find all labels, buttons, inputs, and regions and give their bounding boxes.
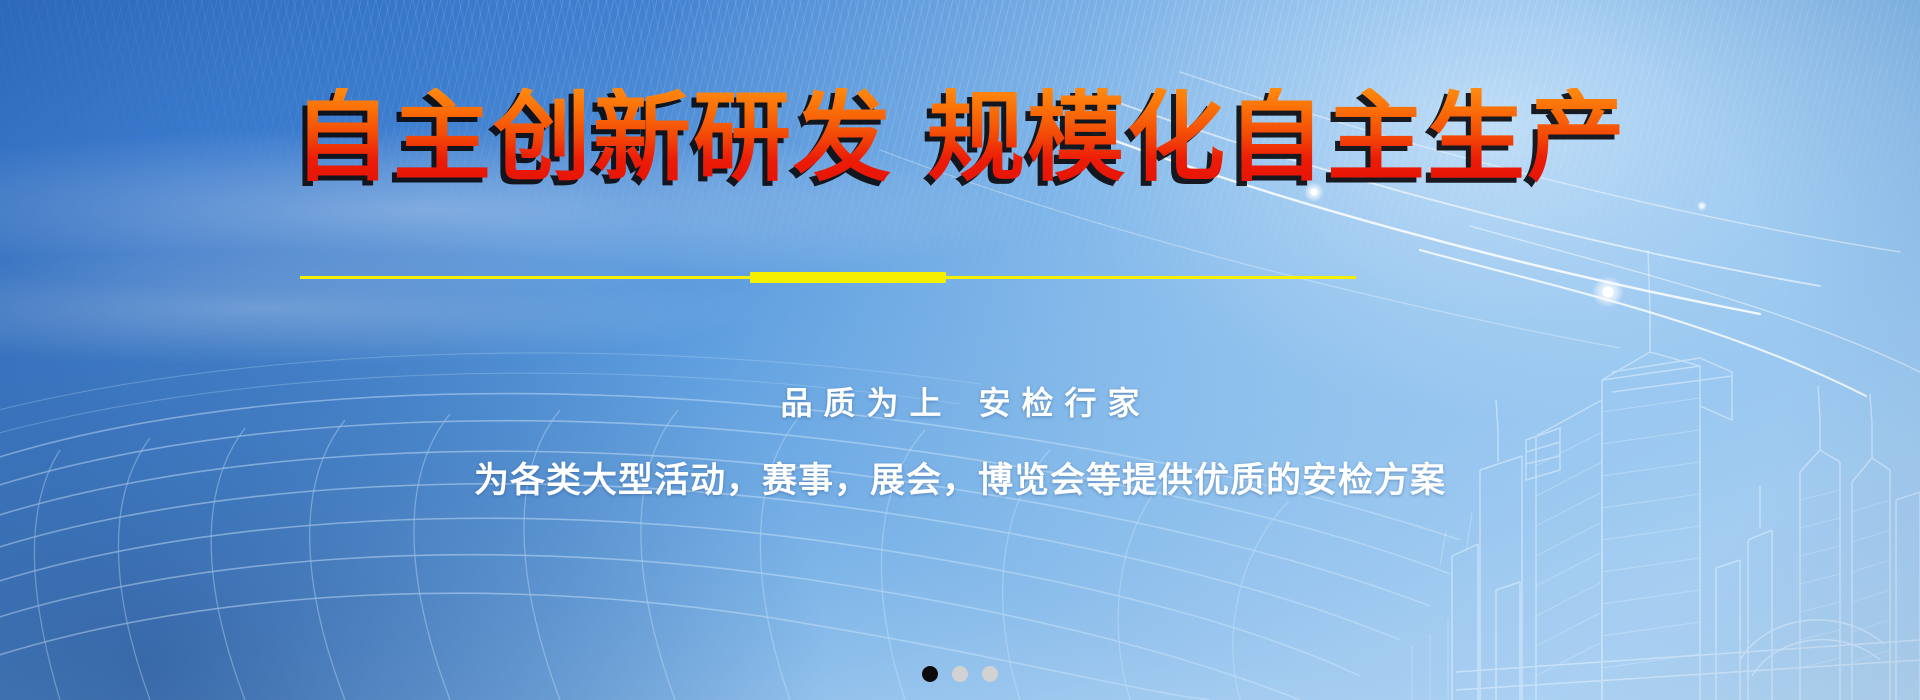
banner-subline: 为各类大型活动，赛事，展会，博览会等提供优质的安检方案: [0, 452, 1920, 503]
headline-segment-1: 自主创新研发: [293, 82, 893, 192]
banner-content: 自主创新研发规模化自主生产 品质为上安检行家 为各类大型活动，赛事，展会，博览会…: [0, 0, 1920, 700]
headline-segment-2: 规模化自主生产: [927, 82, 1627, 192]
carousel-dot-1[interactable]: [922, 666, 938, 682]
tagline-segment-1: 品质为上: [780, 385, 952, 421]
carousel-dots[interactable]: [922, 666, 998, 682]
yellow-divider-accent: [750, 272, 946, 283]
carousel-dot-3[interactable]: [982, 666, 998, 682]
yellow-divider: [300, 276, 1356, 279]
hero-banner: 自主创新研发规模化自主生产 品质为上安检行家 为各类大型活动，赛事，展会，博览会…: [0, 0, 1920, 700]
banner-tagline: 品质为上安检行家: [0, 378, 1920, 424]
carousel-dot-2[interactable]: [952, 666, 968, 682]
banner-headline: 自主创新研发规模化自主生产: [0, 88, 1920, 186]
tagline-segment-2: 安检行家: [979, 385, 1151, 421]
